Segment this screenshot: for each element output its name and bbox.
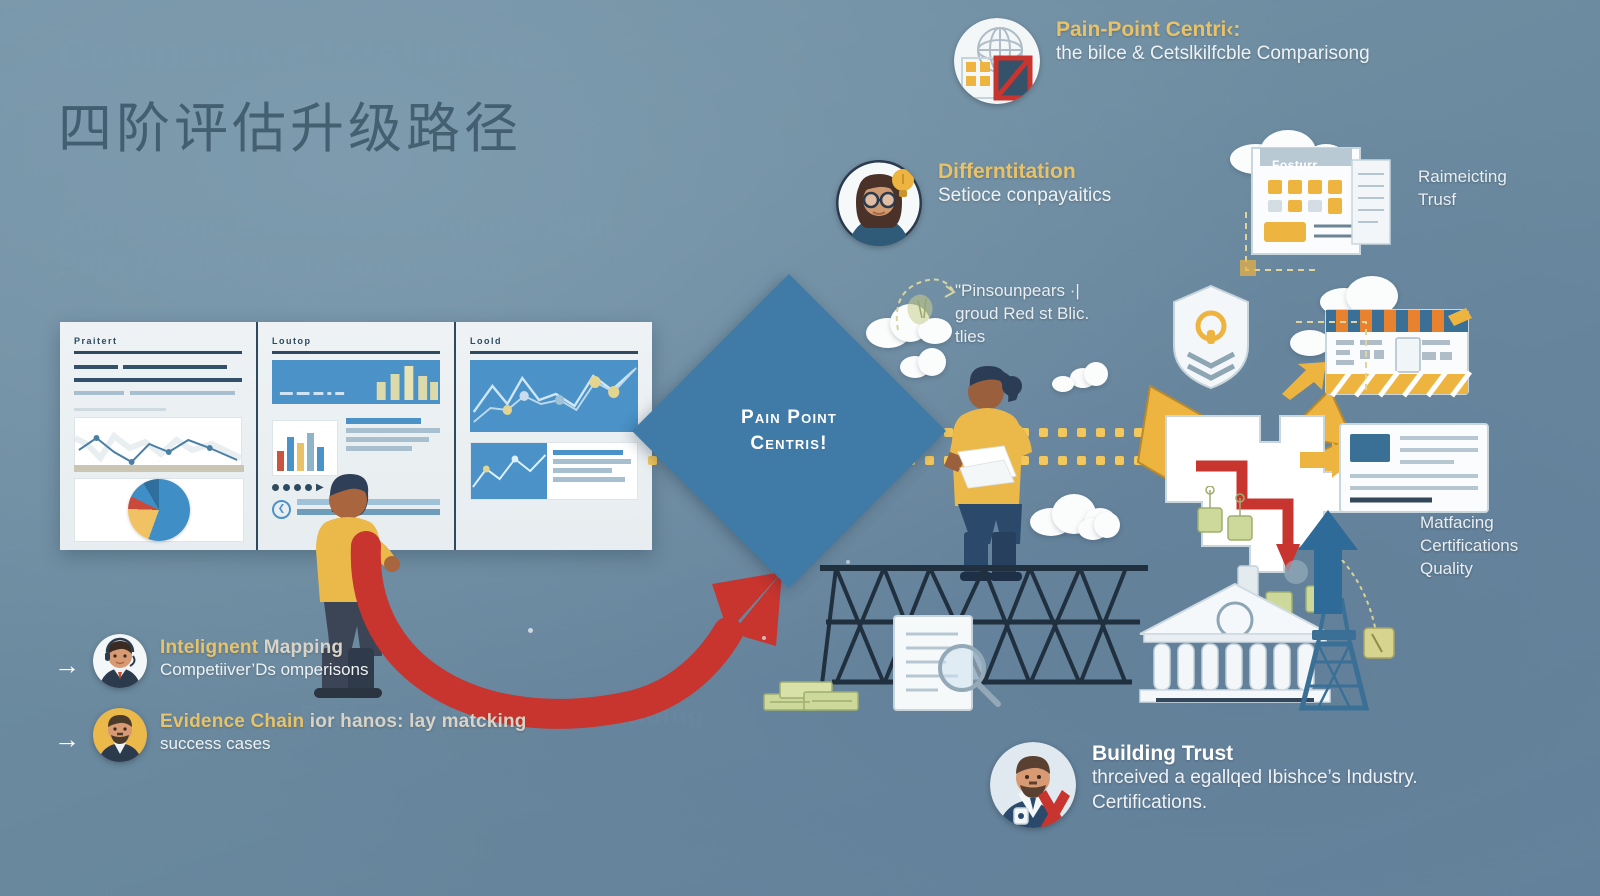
divider [74, 351, 242, 354]
right-dashed-connectors [1236, 212, 1436, 442]
avatar-woman-glasses-icon [836, 160, 922, 246]
callout-text-block: Building Trust thrceived a egallqed Ibis… [1092, 742, 1510, 815]
person-presenter-center-icon [930, 356, 1060, 586]
side-label-matfacing-quality: Matfacing Certifications Quality [1420, 512, 1518, 581]
dashboard-panel-header: Loold [470, 336, 638, 346]
callout-differentiation[interactable]: Differntitation Setioce conpayaitics [836, 160, 1256, 246]
ghost-text-2: Four-Stage Evaluation Upgrade Path [58, 210, 614, 244]
bullet-row-intelligent-mapping[interactable]: → Intelignent Mapping Competiiver’Ds omp… [54, 634, 614, 688]
speech-line-2: groud Red st Blic. [955, 303, 1089, 326]
page-title: 四阶评估升级路径 [58, 84, 522, 163]
ghost-text-1: Competitive Intelligence [58, 30, 565, 78]
document-magnifier-icon [886, 610, 1016, 716]
line-chart-card [74, 417, 242, 471]
bullet-subtitle: Competiiver’Ds omperisons [160, 659, 368, 682]
callout-building-trust[interactable]: Building Trust thrceived a egallqed Ibis… [990, 742, 1510, 828]
bullet-title: Intelignent Mapping [160, 637, 368, 659]
dashboard-panel-header: Loutop [272, 336, 440, 346]
bullet-subtitle: success cases [160, 733, 527, 756]
feature-card-label: Fosturr [1272, 158, 1318, 172]
avatar-support-agent-icon [93, 634, 147, 688]
dashboard-column-1: Praitert [60, 322, 256, 550]
arrow-right-icon: → [54, 726, 80, 752]
callout-text-block: Differntitation Setioce conpayaitics [938, 160, 1111, 209]
speech-line-3: tlies [955, 326, 1089, 349]
idea-sketch-icon [890, 276, 960, 338]
bar-chart-icon [272, 360, 440, 404]
callout-subtitle: thrceived a egallqed Ibishce’s Industry.… [1092, 766, 1510, 815]
infographic-canvas: Competitive Intelligence Four-Stage Eval… [0, 0, 1600, 896]
sparkle-dot [846, 560, 850, 564]
callout-title: Building Trust [1092, 742, 1510, 766]
pie-chart-card [74, 478, 244, 542]
callout-subtitle: Setioce conpayaitics [938, 184, 1111, 209]
dashboard-column-3: Loold [454, 322, 652, 550]
avatar-bearded-man-icon [93, 708, 147, 762]
pie-chart-icon [128, 479, 190, 541]
globe-chart-icon [954, 18, 1040, 104]
dashboard-panel-header: Praitert [74, 336, 242, 346]
bullet-title: Evidence Chain ior hanos: lay matcking [160, 711, 527, 733]
bar-chart-card [272, 360, 440, 404]
callout-subtitle: the bilce & Cetslkilfcble Comparisong [1056, 42, 1370, 67]
callout-pain-point-centric[interactable]: Pain-Point Centri‹: the bilce & Cetslkil… [954, 18, 1554, 104]
side-label-raimeicting-trust: Raimeicting Trusf [1418, 166, 1507, 212]
callout-title: Pain-Point Centri‹: [1056, 18, 1370, 42]
sparkle-dot [528, 628, 533, 633]
trend-line-icon [470, 360, 638, 432]
divider [470, 351, 638, 354]
speech-bubble-text: "Pinsounpears ·| groud Red st Blic. tlie… [955, 280, 1089, 349]
callout-title: Differntitation [938, 160, 1111, 184]
callout-text-block: Pain-Point Centri‹: the bilce & Cetslkil… [1056, 18, 1370, 67]
pendulum-icon [1338, 560, 1408, 680]
bullet-text-block: Evidence Chain ior hanos: lay matcking s… [160, 708, 527, 756]
package-cluster-icon [1194, 486, 1264, 552]
speech-line-1: "Pinsounpears ·| [955, 280, 1089, 303]
trend-chart-card [470, 360, 638, 432]
secondary-chart-card [470, 442, 638, 500]
money-stack-icon [760, 660, 890, 720]
arrow-right-icon: → [54, 652, 80, 678]
mini-line-icon [471, 443, 547, 499]
avatar-bearded-professional-icon [990, 742, 1076, 828]
sparkle-dot [762, 636, 766, 640]
bullet-row-evidence-chain[interactable]: → Evidence Chain ior hanos: lay matcking… [54, 708, 674, 762]
line-chart-icon [75, 418, 241, 470]
bullet-text-block: Intelignent Mapping Competiiver’Ds omper… [160, 634, 368, 682]
ghost-text-3: Pain Point Driven Comparison [58, 248, 518, 282]
divider [272, 351, 440, 354]
